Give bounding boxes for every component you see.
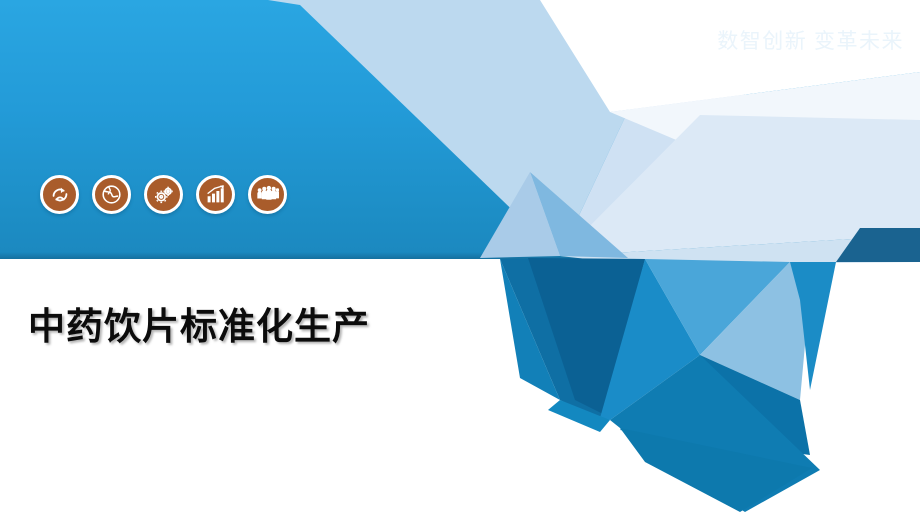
people-group-icon[interactable] bbox=[248, 175, 287, 214]
bar-chart-growth-icon[interactable] bbox=[196, 175, 235, 214]
presentation-slide: 数智创新 变革未来 bbox=[0, 0, 920, 518]
globe-icon[interactable] bbox=[92, 175, 131, 214]
low-poly-decoration bbox=[0, 0, 920, 518]
slide-tagline: 数智创新 变革未来 bbox=[717, 25, 904, 55]
slide-title: 中药饮片标准化生产 bbox=[28, 296, 370, 350]
gears-icon[interactable] bbox=[144, 175, 183, 214]
icon-row bbox=[40, 175, 287, 214]
recycle-growth-icon[interactable] bbox=[40, 175, 79, 214]
